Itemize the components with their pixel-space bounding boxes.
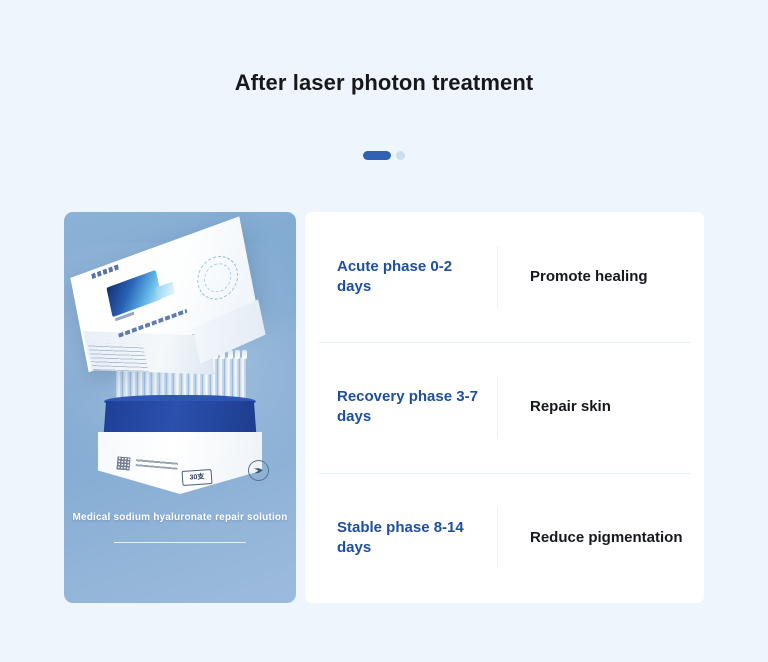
content-row: 30支 Medical sodium hyaluronate repair so… [64,212,704,603]
page-title: After laser photon treatment [0,70,768,96]
phase-row[interactable]: Acute phase 0-2 days Promote healing [305,212,704,342]
phase-label: Stable phase 8-14 days [305,518,497,559]
pagination-dot-1[interactable] [363,151,391,160]
barcode-icon [87,343,148,372]
seal-badge-icon [247,459,270,482]
product-caption: Medical sodium hyaluronate repair soluti… [64,512,296,523]
caption-divider [114,542,246,543]
effect-label: Reduce pigmentation [498,528,704,548]
quantity-badge: 30支 [182,469,213,486]
phase-label: Acute phase 0-2 days [305,257,497,298]
carousel-pagination[interactable] [0,151,768,160]
phase-row[interactable]: Stable phase 8-14 days Reduce pigmentati… [305,473,704,603]
phase-label: Recovery phase 3-7 days [305,387,497,428]
pagination-dot-2[interactable] [396,151,405,160]
phase-row[interactable]: Recovery phase 3-7 days Repair skin [305,342,704,472]
qr-code-icon [116,456,130,470]
effect-label: Repair skin [498,397,704,417]
effect-label: Promote healing [498,267,704,287]
product-image-card[interactable]: 30支 Medical sodium hyaluronate repair so… [64,212,296,603]
phase-info-panel: Acute phase 0-2 days Promote healing Rec… [305,212,704,603]
